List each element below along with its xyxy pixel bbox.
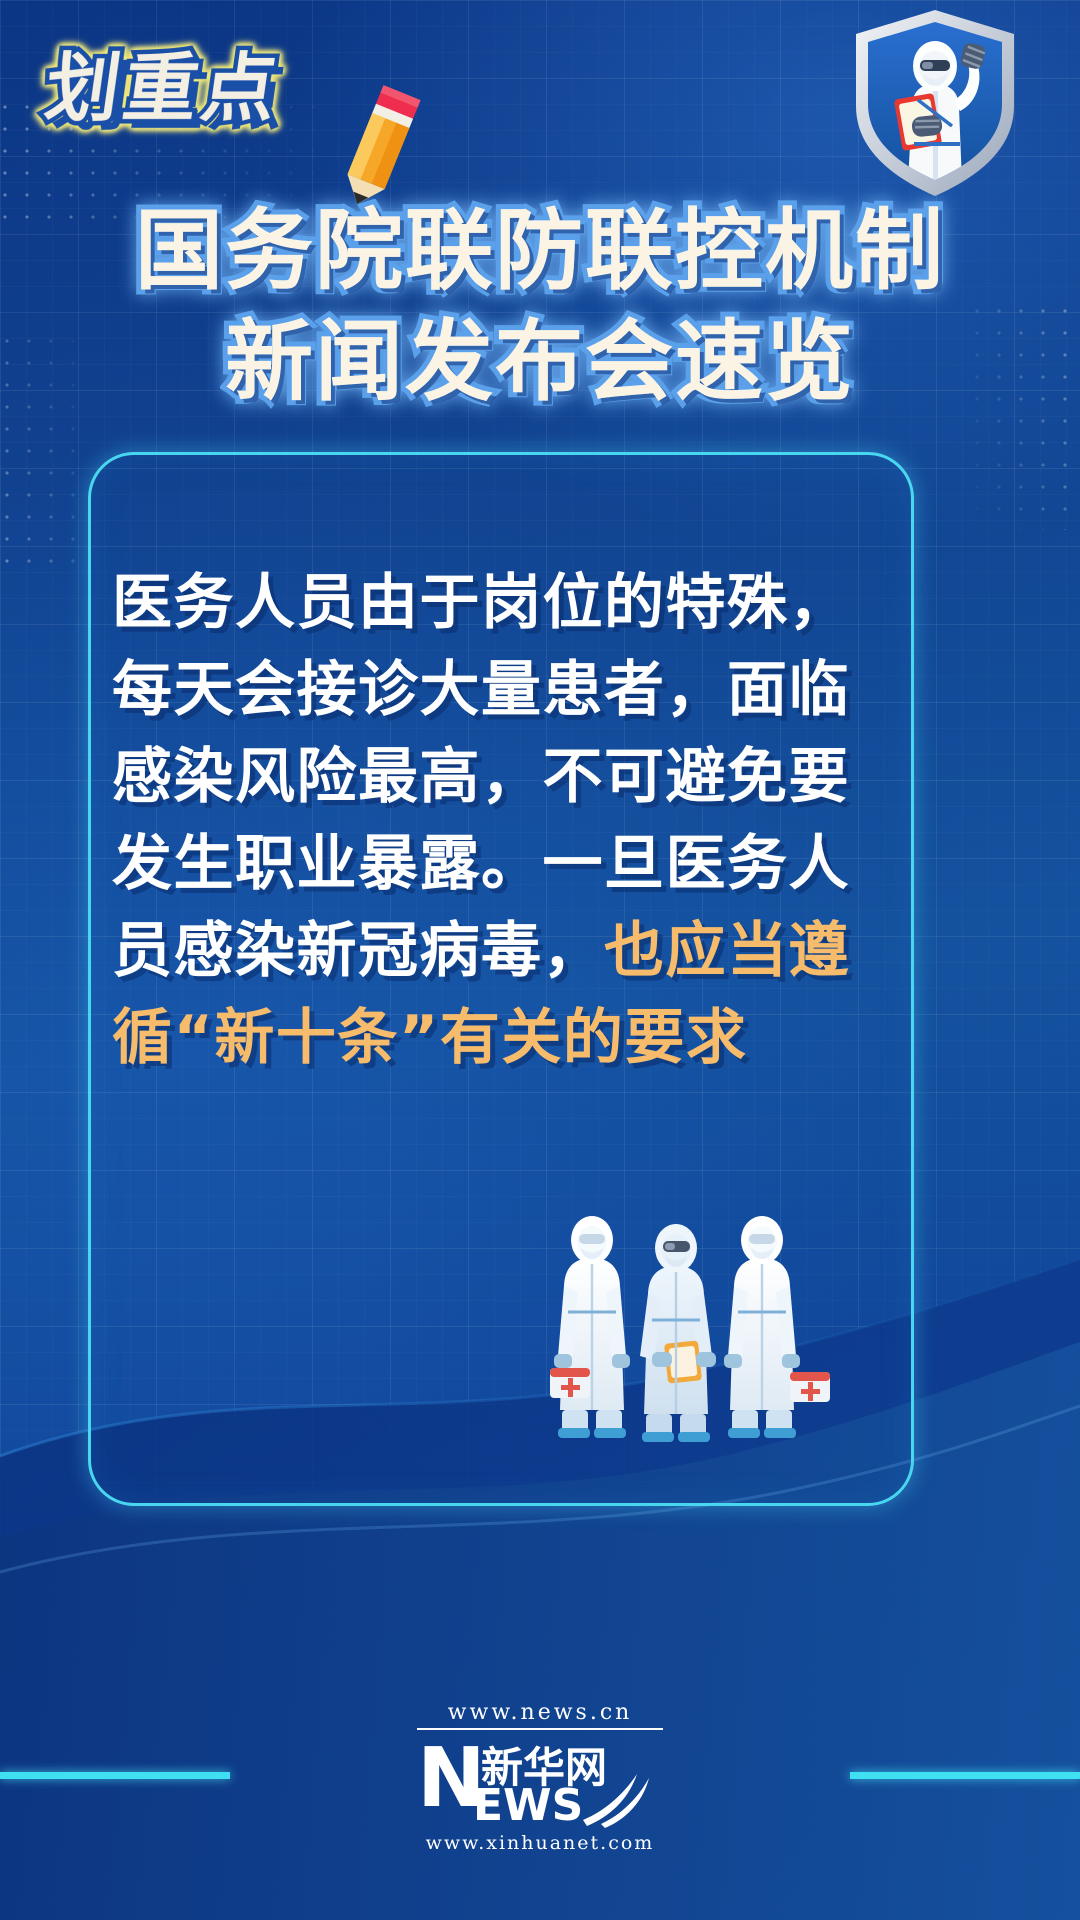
body-line: 循“新十条”有关的要求 xyxy=(112,995,902,1082)
worker-left xyxy=(550,1216,630,1438)
footer-url-top: www.news.cn xyxy=(0,1700,1080,1725)
body-line: 员感染新冠病毒，也应当遵 xyxy=(112,908,902,995)
footer-logo: www.news.cn N EWS 新华网 www.xinhuanet.com xyxy=(0,1700,1080,1854)
body-line-white: 医务人员由于岗位的特殊， xyxy=(112,568,850,638)
poster-root: 划重点 xyxy=(0,0,1080,1920)
three-medical-workers-icon xyxy=(548,1196,838,1456)
pencil-icon xyxy=(324,82,434,212)
svg-text:新华网: 新华网 xyxy=(481,1743,607,1792)
body-text: 医务人员由于岗位的特殊， 每天会接诊大量患者，面临 感染风险最高，不可避免要 发… xyxy=(112,560,902,1082)
body-line-highlight: 也应当遵 xyxy=(604,916,850,986)
xinhua-news-logo-icon: N EWS 新华网 xyxy=(415,1732,665,1828)
worker-middle xyxy=(640,1224,716,1442)
body-line: 医务人员由于岗位的特殊， xyxy=(112,560,902,647)
shield-medical-worker-icon xyxy=(842,4,1028,200)
page-title-line-1: 国务院联防联控机制 xyxy=(0,196,1080,307)
highlight-badge: 划重点 xyxy=(46,52,280,126)
body-line-white: 感染风险最高，不可避免要 xyxy=(112,742,850,812)
brand-lockup: N EWS 新华网 xyxy=(0,1732,1080,1828)
page-title-line-2: 新闻发布会速览 xyxy=(0,307,1080,418)
body-line-white: 发生职业暴露。一旦医务人 xyxy=(112,829,850,899)
body-line-white: 每天会接诊大量患者，面临 xyxy=(112,655,850,725)
footer-rule xyxy=(417,1728,663,1730)
page-title: 国务院联防联控机制 新闻发布会速览 xyxy=(0,196,1080,418)
body-line: 每天会接诊大量患者，面临 xyxy=(112,647,902,734)
highlight-badge-label: 划重点 xyxy=(41,52,285,126)
worker-right xyxy=(724,1216,830,1438)
body-line: 感染风险最高，不可避免要 xyxy=(112,734,902,821)
body-line-white: 员感染新冠病毒， xyxy=(112,916,604,986)
body-line: 发生职业暴露。一旦医务人 xyxy=(112,821,902,908)
footer-url-bottom: www.xinhuanet.com xyxy=(0,1832,1080,1854)
body-line-highlight: 循“新十条”有关的要求 xyxy=(112,1003,747,1073)
